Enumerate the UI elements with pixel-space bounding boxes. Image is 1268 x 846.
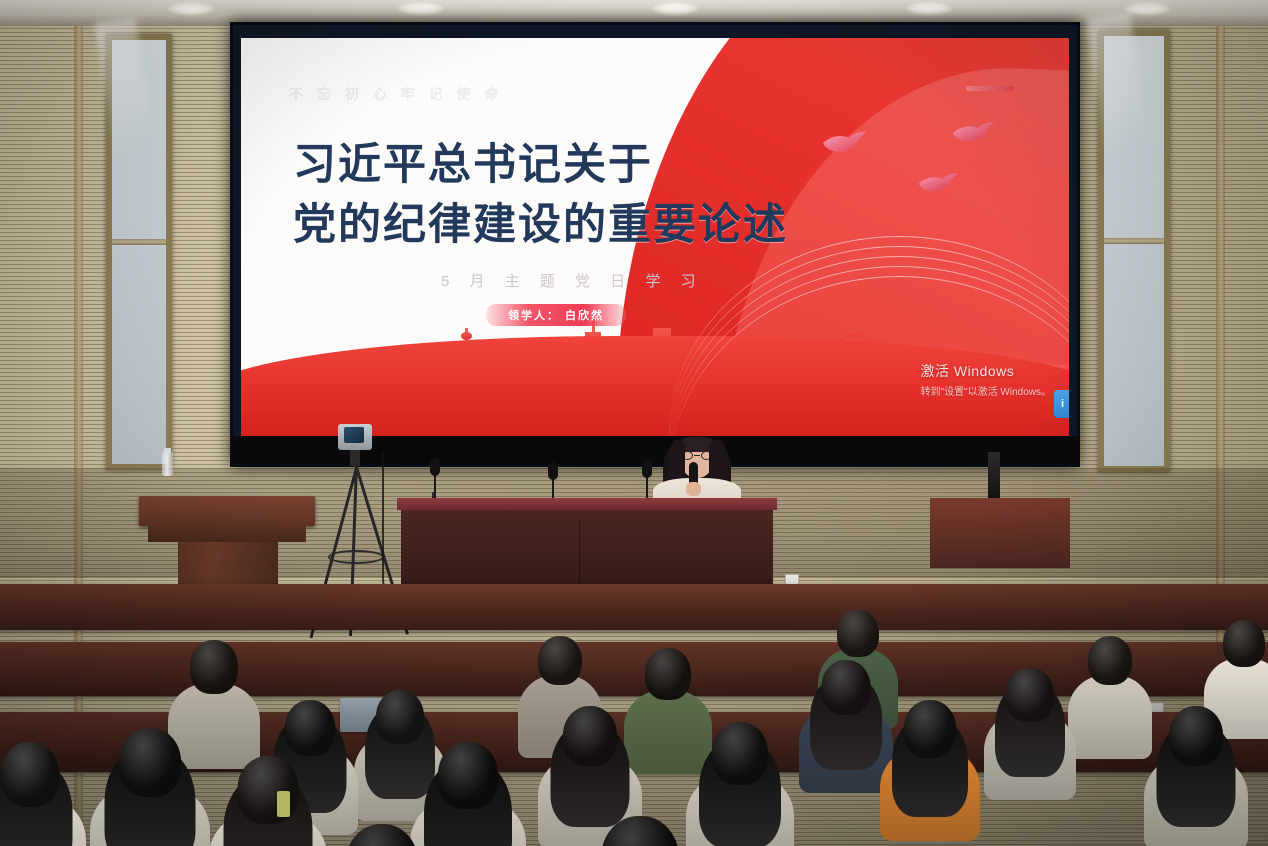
dove-icon (951, 120, 995, 146)
audience-person (880, 700, 980, 846)
audience-person-head (563, 706, 617, 766)
arc-line-decor (669, 246, 1069, 436)
windows-activation-watermark: 激活 Windows 转到"设置"以激活 Windows。 (921, 361, 1051, 398)
audience-person-head (346, 824, 419, 846)
audience-person-head (376, 690, 424, 744)
audience-person-head (1223, 620, 1265, 667)
microphone-head (548, 462, 558, 480)
ceiling-light (1124, 2, 1170, 15)
audience-person-head (538, 636, 582, 685)
water-bottle (162, 452, 173, 476)
audience-person-head (601, 816, 679, 846)
podium-top (139, 496, 315, 526)
audience-person-head (1006, 668, 1054, 722)
audience-person-head (438, 742, 498, 809)
slide-title-line2: 党的纪律建设的重要论述 (293, 190, 788, 252)
audience-person (565, 816, 715, 846)
audience-person-head (837, 610, 879, 657)
audience-person-head (285, 700, 335, 756)
audience-person (90, 728, 210, 846)
audience-person (1144, 706, 1248, 846)
audience-person-head (822, 660, 871, 715)
table-edge (397, 498, 777, 510)
audience-person-body (1068, 675, 1152, 759)
camera-lens (344, 427, 364, 443)
audience-person-head (1169, 706, 1223, 766)
lecture-hall-scene: 不 忘 初 心 牢 记 使 命 习近平总书记关于 党的纪律建设的重要论述 5 月… (0, 0, 1268, 846)
presenter-badge: 领学人： 白欣然 (486, 304, 626, 326)
audience-person (0, 742, 86, 846)
presentation-control-button[interactable]: i (1054, 390, 1069, 418)
hair-clip (277, 791, 290, 817)
watermark-line1: 激活 Windows (921, 361, 1051, 381)
side-equipment-stand (988, 452, 1000, 502)
dove-icon (917, 171, 959, 196)
audience-person (209, 756, 327, 846)
dash-accent-mark (966, 86, 1014, 91)
audience-person-head (1088, 636, 1132, 685)
audience-person (984, 668, 1076, 831)
dove-icon (821, 130, 867, 156)
speaker-person (655, 432, 739, 504)
audience-person (1068, 636, 1152, 789)
audience-person-head (119, 728, 181, 797)
audience-person (312, 824, 452, 846)
audience-person-head (904, 700, 956, 758)
speaker-glasses (682, 451, 712, 460)
ceiling-light (398, 2, 444, 15)
presentation-slide[interactable]: 不 忘 初 心 牢 记 使 命 习近平总书记关于 党的纪律建设的重要论述 5 月… (241, 38, 1069, 436)
speaker-hand (686, 482, 701, 496)
audience-person (799, 660, 893, 824)
microphone-head (430, 458, 440, 476)
left-whiteboard-panel (106, 34, 172, 470)
slide-subtitle: 5 月 主 题 党 日 学 习 (441, 270, 704, 291)
audience-person-head (1, 742, 59, 807)
projection-screen[interactable]: 不 忘 初 心 牢 记 使 命 习近平总书记关于 党的纪律建设的重要论述 5 月… (230, 22, 1080, 467)
audience-person-head (190, 640, 238, 694)
slide-title-line1: 习近平总书记关于 (293, 130, 653, 192)
podium-mid (148, 526, 306, 542)
bench-row (0, 584, 1268, 630)
audience-person-head (712, 722, 768, 785)
watermark-line2: 转到"设置"以激活 Windows。 (921, 383, 1051, 398)
ceiling-light (168, 2, 214, 15)
microphone-head (642, 460, 652, 478)
ceiling-light (906, 2, 952, 15)
right-whiteboard-panel (1098, 30, 1170, 472)
ceiling-light (652, 2, 698, 15)
slide-kicker: 不 忘 初 心 牢 记 使 命 (289, 84, 503, 104)
audience-person-head (645, 648, 691, 700)
